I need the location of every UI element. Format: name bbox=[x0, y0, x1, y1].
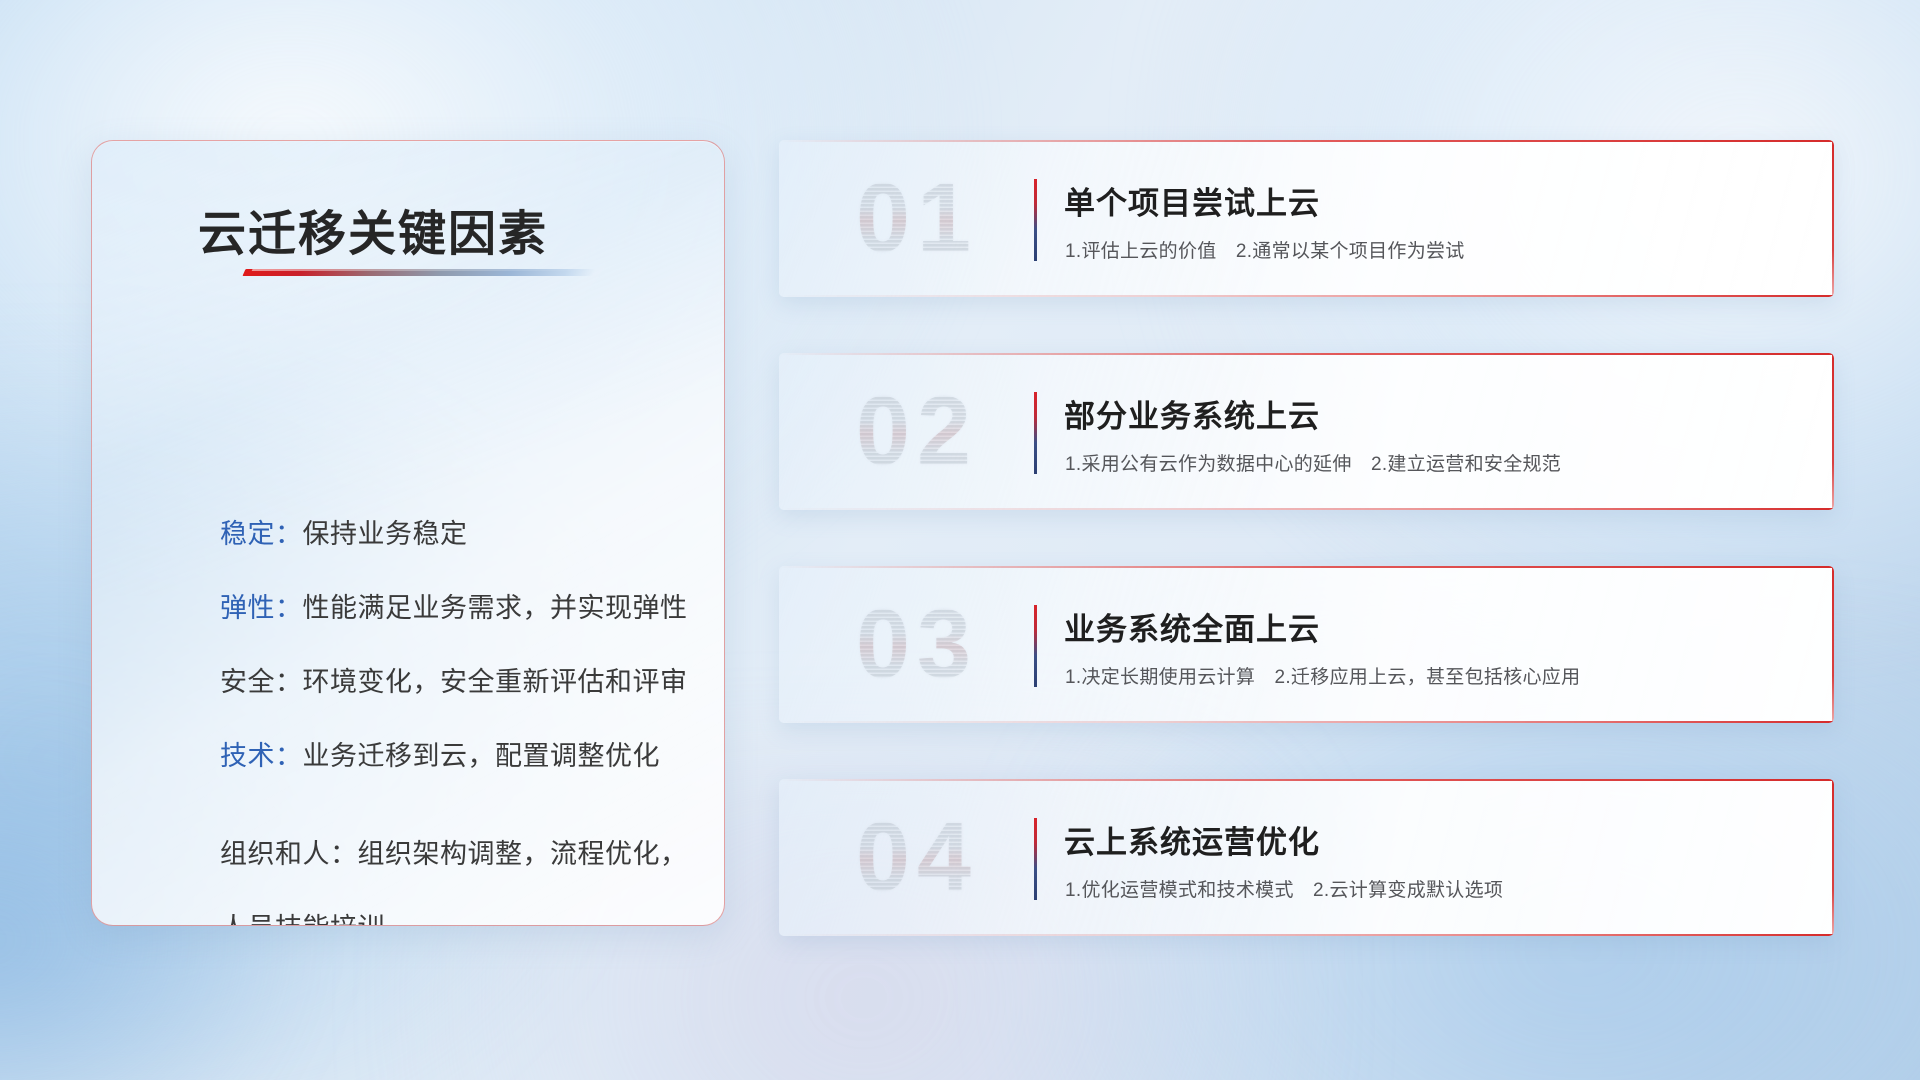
migration-stage-cards: 01 01 01 单个项目尝试上云 1.评估上云的价值 2.通常以某个项目作为尝… bbox=[779, 140, 1834, 992]
card-border-right bbox=[1832, 566, 1834, 723]
card-border-bottom bbox=[779, 934, 1834, 936]
card-title: 云上系统运营优化 bbox=[1064, 817, 1320, 862]
card-subtitle: 1.评估上云的价值 2.通常以某个项目作为尝试 bbox=[1065, 236, 1465, 263]
bullet-label: 安全： bbox=[220, 667, 303, 697]
card-border-top bbox=[779, 353, 1834, 355]
bullet-text: 环境变化，安全重新评估和评审 bbox=[303, 667, 688, 697]
card-subtitle: 1.优化运营模式和技术模式 2.云计算变成默认选项 bbox=[1065, 875, 1503, 902]
card-divider-bar bbox=[1034, 392, 1037, 474]
list-item: 稳定：保持业务稳定 bbox=[220, 521, 704, 548]
bullet-label: 稳定： bbox=[220, 519, 303, 549]
list-item: 组织和人：组织架构调整，流程优化，人员技能培训 bbox=[220, 817, 704, 926]
card-border-bottom bbox=[779, 508, 1834, 510]
card-number-red-accent: 04 bbox=[807, 791, 1027, 923]
bullet-label: 技术： bbox=[220, 741, 303, 771]
panel-title-underline bbox=[242, 269, 595, 276]
card-title: 单个项目尝试上云 bbox=[1064, 178, 1320, 223]
card-subtitle: 1.决定长期使用云计算 2.迁移应用上云，甚至包括核心应用 bbox=[1065, 662, 1580, 689]
bullet-label: 组织和人： bbox=[220, 839, 358, 869]
list-item: 技术：业务迁移到云，配置调整优化 bbox=[220, 743, 704, 770]
card-border-top bbox=[779, 140, 1834, 142]
stage-card-03[interactable]: 03 03 03 业务系统全面上云 1.决定长期使用云计算 2.迁移应用上云，甚… bbox=[779, 566, 1834, 723]
bullet-label: 弹性： bbox=[220, 593, 303, 623]
card-border-right bbox=[1832, 140, 1834, 297]
bullet-text: 业务迁移到云，配置调整优化 bbox=[303, 741, 661, 771]
list-item: 弹性：性能满足业务需求，并实现弹性 bbox=[220, 595, 704, 622]
list-item: 安全：环境变化，安全重新评估和评审 bbox=[220, 669, 704, 696]
card-border-bottom bbox=[779, 295, 1834, 297]
card-subtitle: 1.采用公有云作为数据中心的延伸 2.建立运营和安全规范 bbox=[1065, 449, 1561, 476]
card-border-right bbox=[1832, 353, 1834, 510]
card-border-right bbox=[1832, 779, 1834, 936]
stage-card-02[interactable]: 02 02 02 部分业务系统上云 1.采用公有云作为数据中心的延伸 2.建立运… bbox=[779, 353, 1834, 510]
card-border-top bbox=[779, 779, 1834, 781]
card-border-top bbox=[779, 566, 1834, 568]
card-number-red-accent: 01 bbox=[807, 152, 1027, 284]
card-title: 业务系统全面上云 bbox=[1064, 604, 1320, 649]
card-number-red-accent: 02 bbox=[807, 365, 1027, 497]
key-factors-panel: 云迁移关键因素 稳定：保持业务稳定 弹性：性能满足业务需求，并实现弹性 安全：环… bbox=[91, 140, 725, 926]
bullet-text: 保持业务稳定 bbox=[303, 519, 468, 549]
panel-title: 云迁移关键因素 bbox=[198, 194, 548, 264]
card-number-red-accent: 03 bbox=[807, 578, 1027, 710]
bullet-text: 性能满足业务需求，并实现弹性 bbox=[303, 593, 688, 623]
card-border-bottom bbox=[779, 721, 1834, 723]
stage-card-01[interactable]: 01 01 01 单个项目尝试上云 1.评估上云的价值 2.通常以某个项目作为尝… bbox=[779, 140, 1834, 297]
card-title: 部分业务系统上云 bbox=[1064, 391, 1320, 436]
card-divider-bar bbox=[1034, 179, 1037, 261]
card-divider-bar bbox=[1034, 605, 1037, 687]
slide-stage: 云迁移关键因素 稳定：保持业务稳定 弹性：性能满足业务需求，并实现弹性 安全：环… bbox=[0, 0, 1920, 1080]
card-divider-bar bbox=[1034, 818, 1037, 900]
stage-card-04[interactable]: 04 04 04 云上系统运营优化 1.优化运营模式和技术模式 2.云计算变成默… bbox=[779, 779, 1834, 936]
key-factors-list: 稳定：保持业务稳定 弹性：性能满足业务需求，并实现弹性 安全：环境变化，安全重新… bbox=[220, 521, 704, 926]
